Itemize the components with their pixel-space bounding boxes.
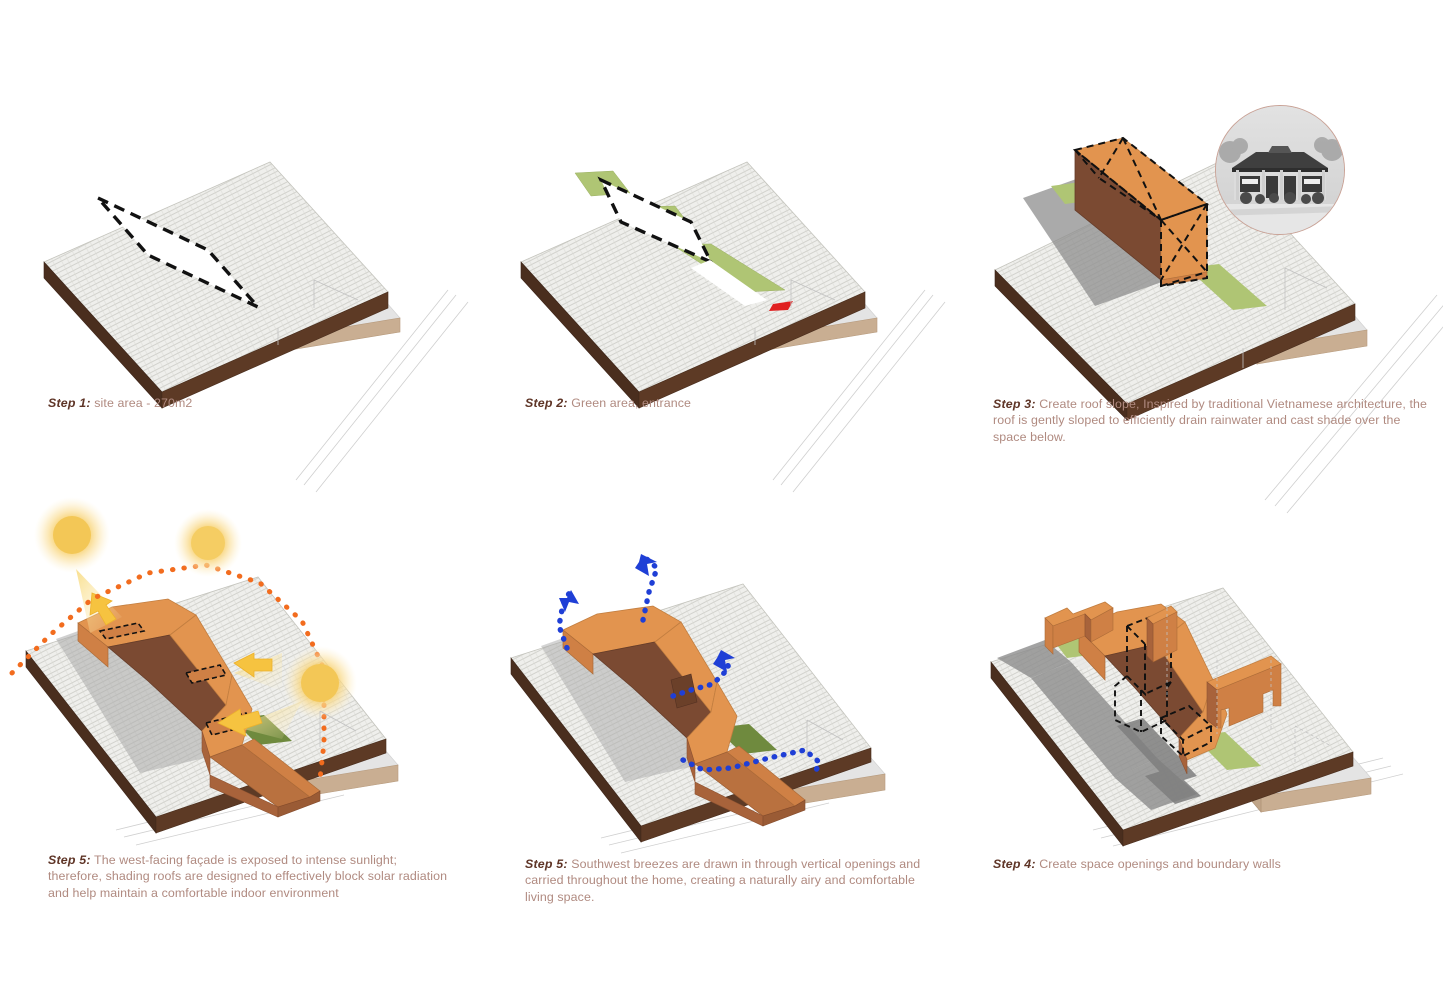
sun-marker-morning xyxy=(34,497,110,573)
isometric-scene-sun-study xyxy=(20,495,460,835)
panel-step-1: Step 1: site area - 270m2 xyxy=(28,140,448,380)
step-label-5-wind: Step 5: xyxy=(525,857,568,871)
isometric-scene-step-4 xyxy=(975,530,1415,840)
panel-step-5-wind: Step 5: Southwest breezes are drawn in t… xyxy=(505,520,935,840)
sun-marker-noon xyxy=(174,509,242,577)
step-text-4: Create space openings and boundary walls xyxy=(1036,857,1281,871)
caption-step-4: Step 4: Create space openings and bounda… xyxy=(993,856,1413,872)
panel-step-3: Step 3: Create roof slope, Inspired by t… xyxy=(975,100,1435,390)
caption-step-2: Step 2: Green area, entrance xyxy=(525,395,925,411)
panel-step-5-sun: Step 5: The west-facing façade is expose… xyxy=(20,495,460,835)
caption-step-3: Step 3: Create roof slope, Inspired by t… xyxy=(993,396,1433,445)
step-label-4: Step 4: xyxy=(993,857,1036,871)
step-label-5-sun: Step 5: xyxy=(48,853,91,867)
step-text-1: site area - 270m2 xyxy=(91,396,193,410)
isometric-scene-step-3 xyxy=(975,100,1435,390)
isometric-scene-step-1 xyxy=(28,140,448,380)
step-label-1: Step 1: xyxy=(48,396,91,410)
site-plate xyxy=(521,162,865,408)
sun-marker-afternoon xyxy=(283,646,357,720)
step-text-5-sun: The west-facing façade is exposed to int… xyxy=(48,853,447,900)
step-text-5-wind: Southwest breezes are drawn in through v… xyxy=(525,857,920,904)
traditional-vietnamese-house-photo xyxy=(1215,105,1345,235)
step-text-3: Create roof slope, Inspired by tradition… xyxy=(993,397,1427,444)
panel-step-4: Step 4: Create space openings and bounda… xyxy=(975,530,1415,840)
step-text-2: Green area, entrance xyxy=(568,396,691,410)
caption-step-5-wind: Step 5: Southwest breezes are drawn in t… xyxy=(525,856,925,905)
step-label-2: Step 2: xyxy=(525,396,568,410)
diagram-sheet: Step 1: site area - 270m2 xyxy=(0,0,1443,1000)
isometric-scene-step-2 xyxy=(505,140,925,380)
step-label-3: Step 3: xyxy=(993,397,1036,411)
caption-step-5-sun: Step 5: The west-facing façade is expose… xyxy=(48,852,448,901)
panel-step-2: Step 2: Green area, entrance xyxy=(505,140,925,380)
caption-step-1: Step 1: site area - 270m2 xyxy=(48,395,448,411)
isometric-scene-wind-study xyxy=(505,520,935,840)
